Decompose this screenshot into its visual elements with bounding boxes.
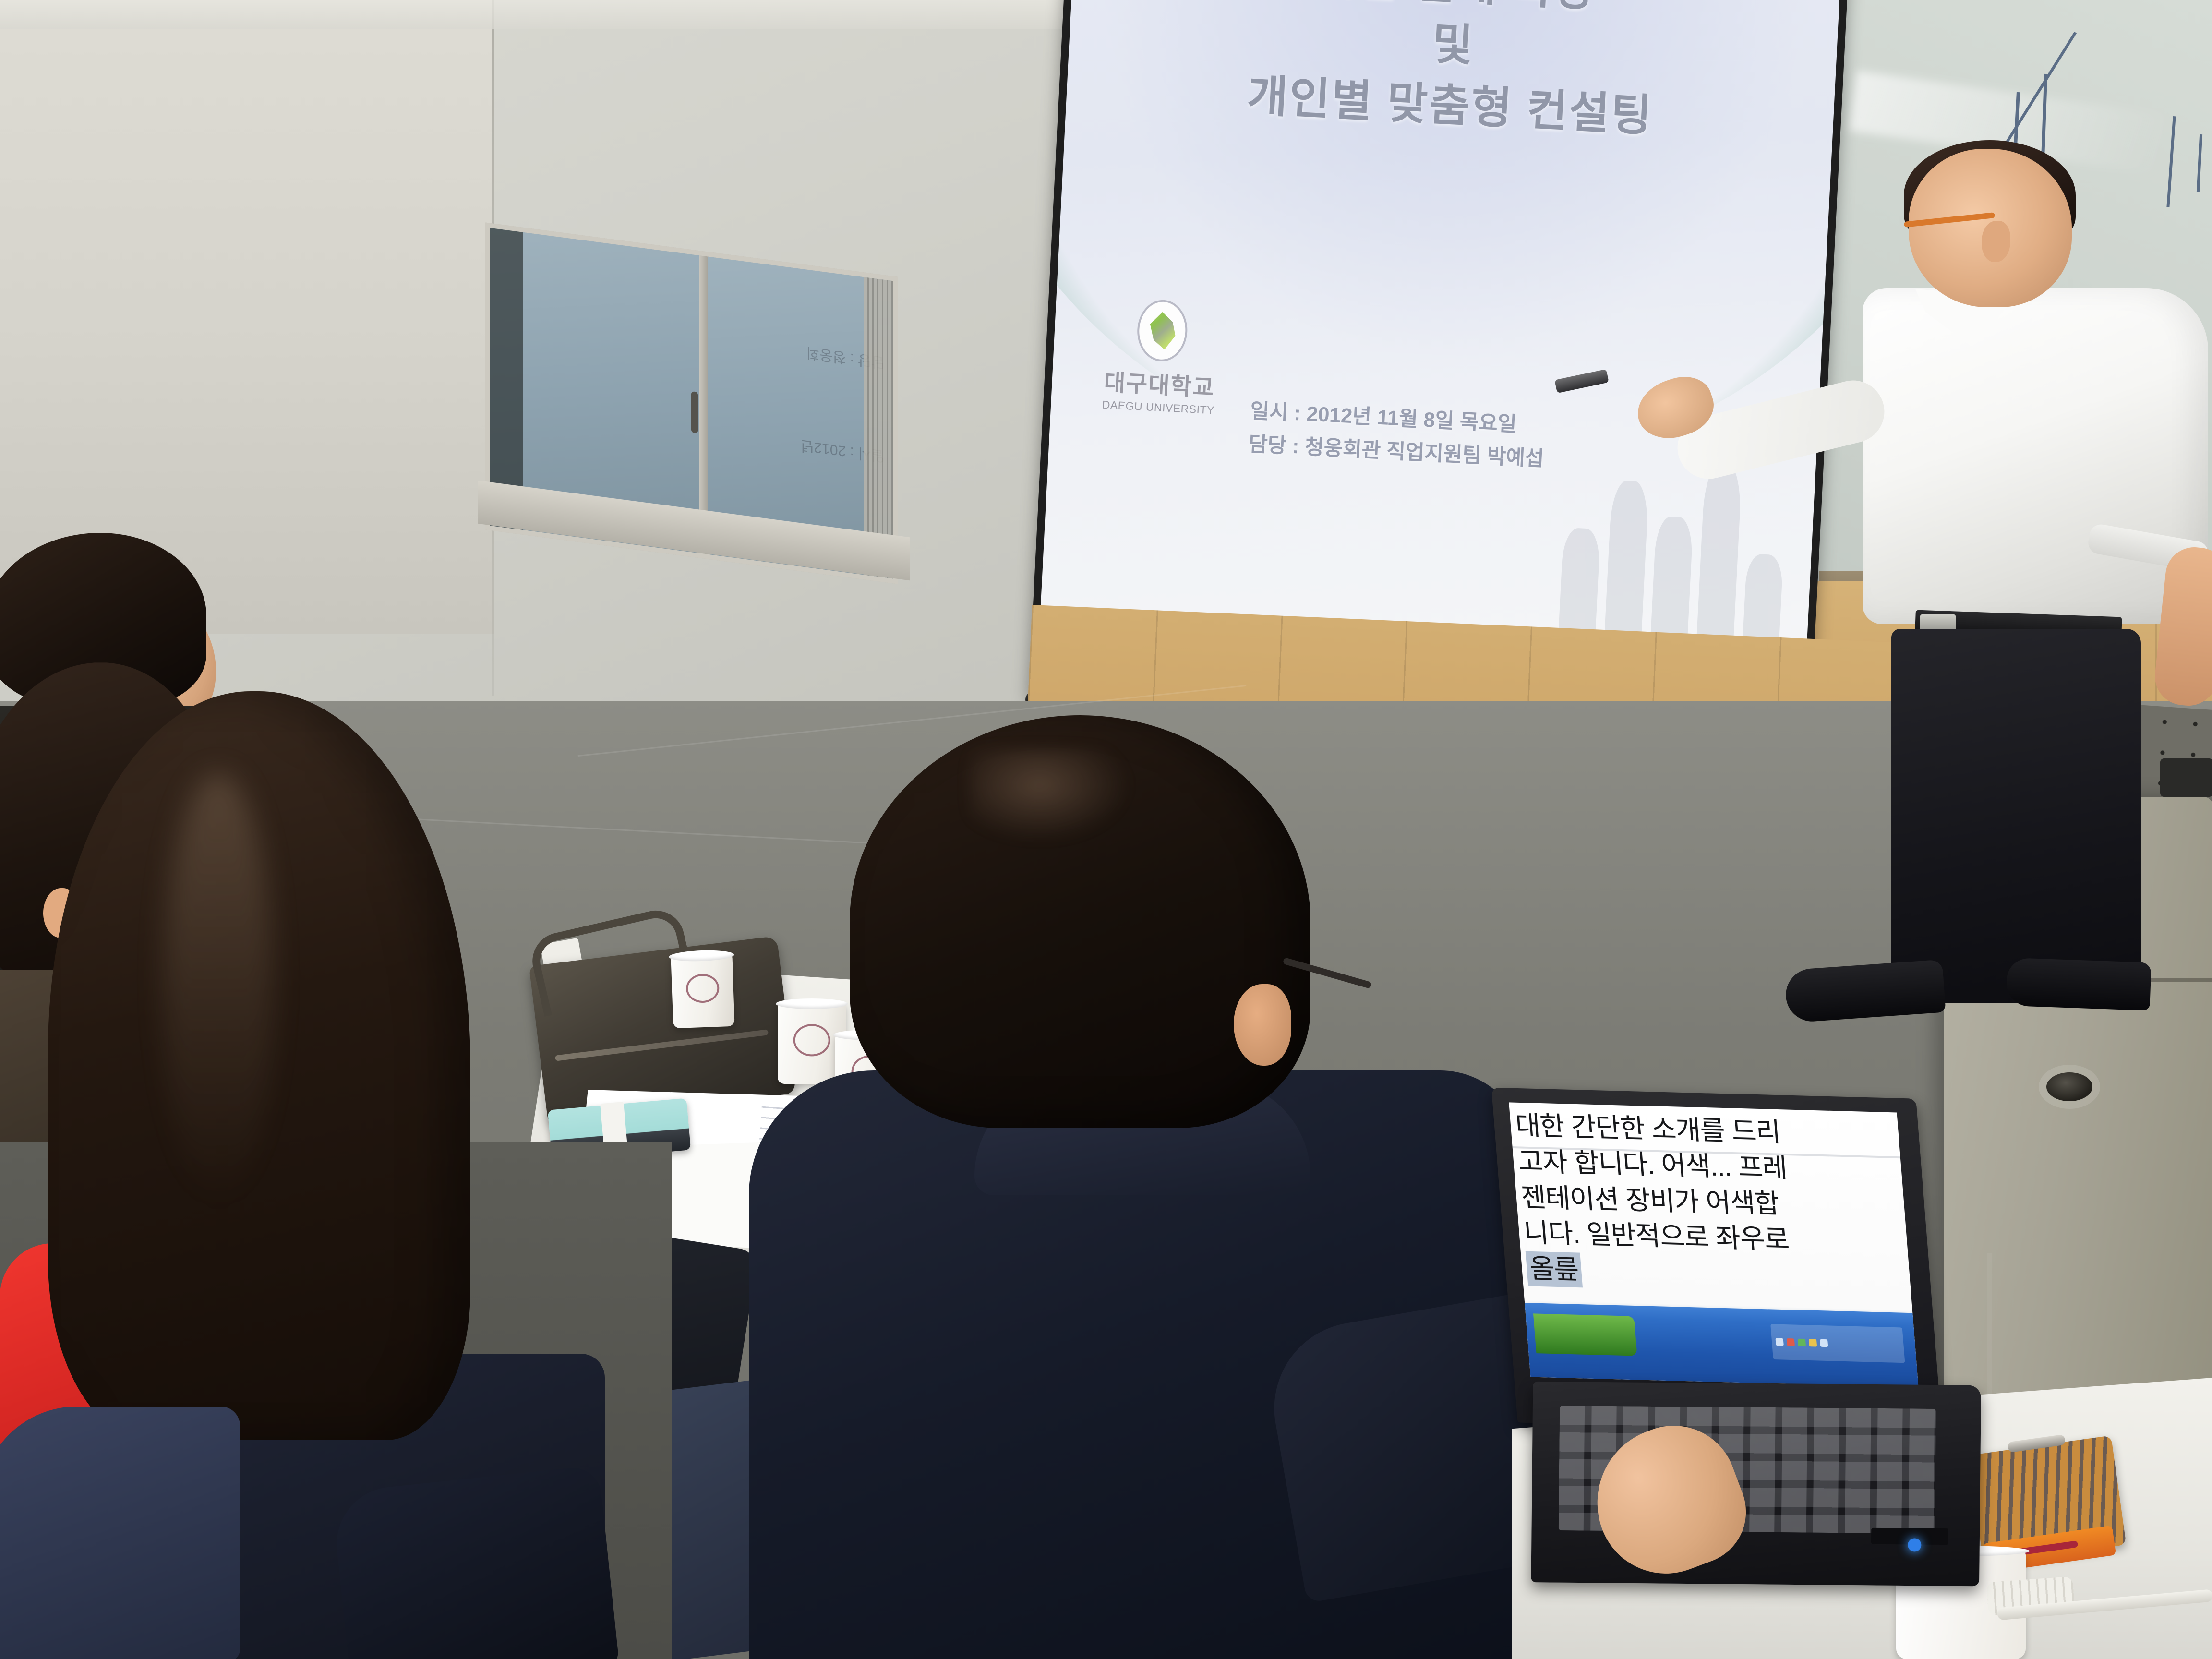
student-hair	[48, 691, 470, 1440]
university-emblem-icon	[1136, 299, 1189, 362]
cabinet-knob[interactable]	[2046, 1072, 2092, 1101]
emblem-ring-text	[1137, 300, 1188, 361]
laptop-screen[interactable]: 대한 간단한 소개를 드리 고자 합니다. 어색... 프레 젠테이션 장비가 …	[1509, 1102, 1918, 1387]
ceiling-strip	[0, 0, 1104, 29]
tray-icon[interactable]	[1808, 1339, 1816, 1346]
hair-crown-highlight	[970, 749, 1128, 840]
logo-korean-name: 대구대학교	[1094, 363, 1226, 403]
photo-scene: 맞춤형 맞춤형 일시 : 2012년 담당 : 청웅회 취업 설계 특강 및 개	[0, 0, 2212, 1659]
hair-highlight	[163, 773, 274, 1205]
tray-icon[interactable]	[1820, 1339, 1828, 1347]
windows-taskbar[interactable]	[1525, 1303, 1918, 1387]
presenter-right-shoe	[2006, 958, 2151, 1010]
window-handle[interactable]	[691, 391, 698, 433]
system-tray[interactable]	[1770, 1324, 1905, 1363]
chair[interactable]	[0, 1407, 240, 1659]
cup-logo-icon	[685, 974, 720, 1003]
presenter-left-shoe	[1784, 960, 1946, 1023]
reflection-line-3: 담당 : 청웅회	[716, 332, 884, 371]
document-selected-text: 올릎	[1526, 1251, 1583, 1288]
presenter-shirt	[1863, 288, 2208, 624]
laptop-keyboard-deck[interactable]	[1531, 1382, 1981, 1587]
reflection-line-2: 일시 : 2012년	[716, 425, 884, 464]
cup-logo-icon	[793, 1024, 830, 1057]
start-button[interactable]	[1533, 1313, 1637, 1356]
student-arm	[331, 1465, 620, 1659]
presenter	[1863, 149, 2212, 1013]
student-hair	[850, 715, 1310, 1128]
presenter-ear	[1982, 221, 2010, 262]
paper-cup[interactable]	[671, 954, 734, 1028]
tray-icon[interactable]	[1786, 1338, 1794, 1346]
tray-icon[interactable]	[1775, 1338, 1783, 1346]
student-ear	[1234, 984, 1291, 1066]
samsung-laptop[interactable]: 대한 간단한 소개를 드리 고자 합니다. 어색... 프레 젠테이션 장비가 …	[1493, 1071, 2020, 1612]
tray-icon[interactable]	[1797, 1339, 1805, 1346]
power-led-indicator	[1908, 1538, 1921, 1551]
laptop-document-text: 대한 간단한 소개를 드리 고자 합니다. 어색... 프레 젠테이션 장비가 …	[1509, 1102, 1912, 1310]
daegu-university-logo: 대구대학교 DAEGU UNIVERSITY	[1093, 297, 1229, 417]
presenter-trousers	[1891, 629, 2141, 1003]
